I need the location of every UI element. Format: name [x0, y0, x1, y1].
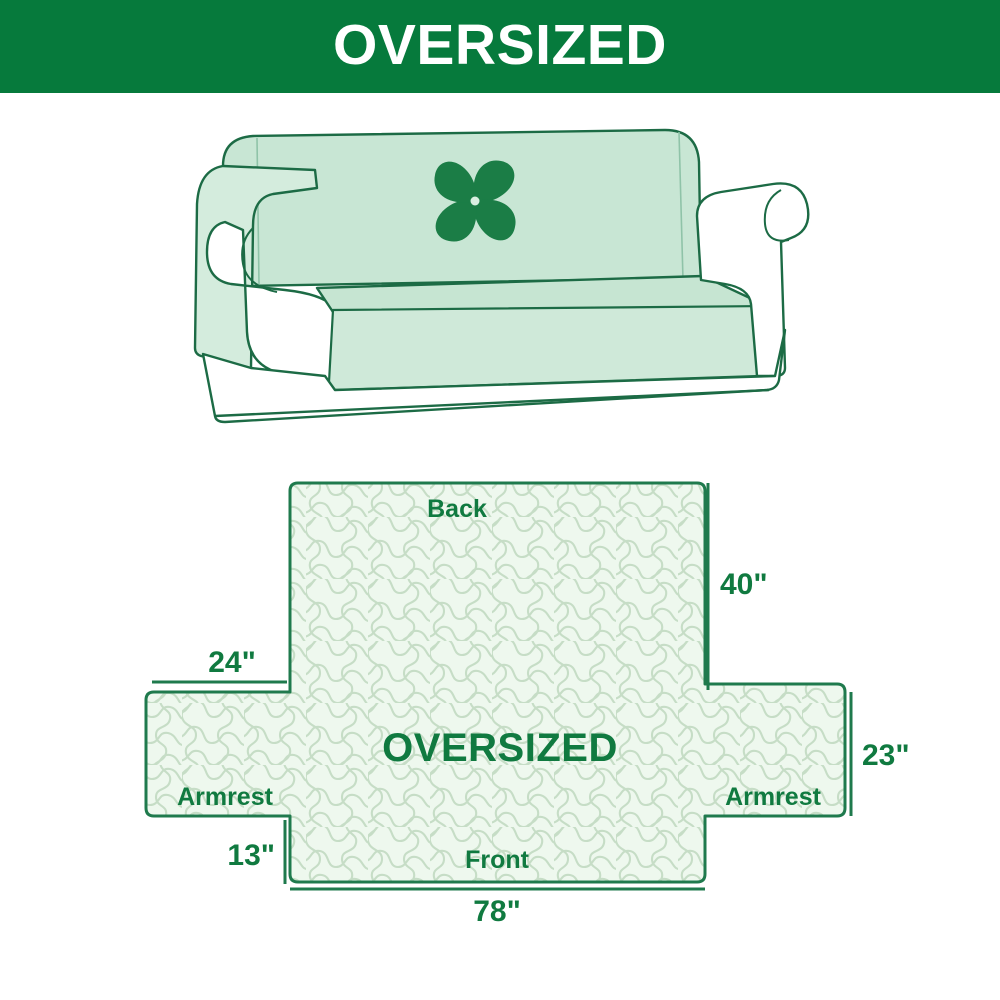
dimension-value-23: 23": [862, 739, 910, 772]
dimension-front-depth: 13": [227, 820, 285, 884]
size-diagram-svg: Back Front Armrest Armrest OVERSIZED 24"…: [120, 455, 1000, 935]
panel-label-armrest-left: Armrest: [177, 783, 274, 811]
dimension-back-depth: 24": [152, 646, 287, 682]
panel-label-armrest-right: Armrest: [725, 783, 822, 811]
sofa-illustration: [185, 118, 825, 430]
panel-label-back: Back: [427, 495, 487, 523]
page-title: OVERSIZED: [333, 17, 667, 74]
dimension-value-78: 78": [473, 895, 521, 928]
center-size-label: OVERSIZED: [382, 726, 618, 770]
panel-label-front: Front: [465, 846, 530, 874]
dimension-value-24: 24": [208, 646, 256, 679]
dimension-armrest-height: 23": [851, 692, 910, 816]
dimension-value-13: 13": [227, 839, 275, 872]
dimension-back-height: 40": [708, 483, 768, 690]
header-banner: OVERSIZED: [0, 0, 1000, 93]
size-chart-canvas: OVERSIZED: [0, 0, 1000, 1000]
dimension-value-40: 40": [720, 568, 768, 601]
dimension-total-width: 78": [290, 889, 705, 928]
sofa-svg: [185, 118, 825, 430]
size-diagram: Back Front Armrest Armrest OVERSIZED 24"…: [120, 455, 1000, 935]
